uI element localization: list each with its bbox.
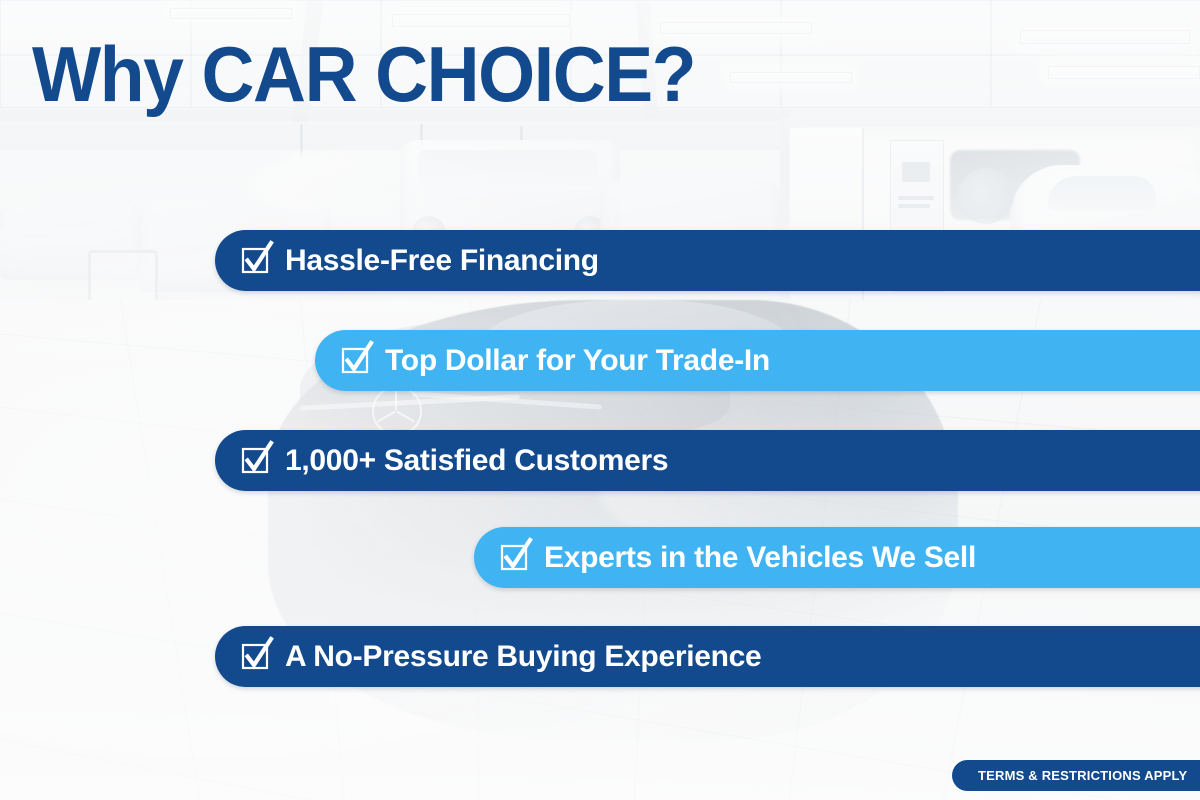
checkbox-checked-icon	[241, 640, 271, 670]
benefit-item-4[interactable]: Experts in the Vehicles We Sell	[474, 527, 1200, 588]
benefit-label: Top Dollar for Your Trade-In	[385, 344, 770, 378]
benefit-label: A No-Pressure Buying Experience	[285, 640, 761, 674]
benefit-item-1[interactable]: Hassle-Free Financing	[215, 230, 1200, 291]
benefit-item-5[interactable]: A No-Pressure Buying Experience	[215, 626, 1200, 687]
benefit-label: Experts in the Vehicles We Sell	[544, 541, 976, 575]
benefit-list: Hassle-Free Financing Top Dollar for You…	[0, 0, 1200, 800]
benefit-item-2[interactable]: Top Dollar for Your Trade-In	[315, 330, 1200, 391]
terms-badge[interactable]: TERMS & RESTRICTIONS APPLY	[952, 760, 1200, 791]
promo-banner: Why CAR CHOICE? Hassle-Free Financing To…	[0, 0, 1200, 800]
checkbox-checked-icon	[500, 541, 530, 571]
benefit-label: 1,000+ Satisfied Customers	[285, 444, 668, 478]
benefit-label: Hassle-Free Financing	[285, 244, 599, 278]
checkbox-checked-icon	[241, 444, 271, 474]
benefit-item-3[interactable]: 1,000+ Satisfied Customers	[215, 430, 1200, 491]
checkbox-checked-icon	[341, 344, 371, 374]
terms-badge-label: TERMS & RESTRICTIONS APPLY	[978, 768, 1187, 783]
checkbox-checked-icon	[241, 244, 271, 274]
